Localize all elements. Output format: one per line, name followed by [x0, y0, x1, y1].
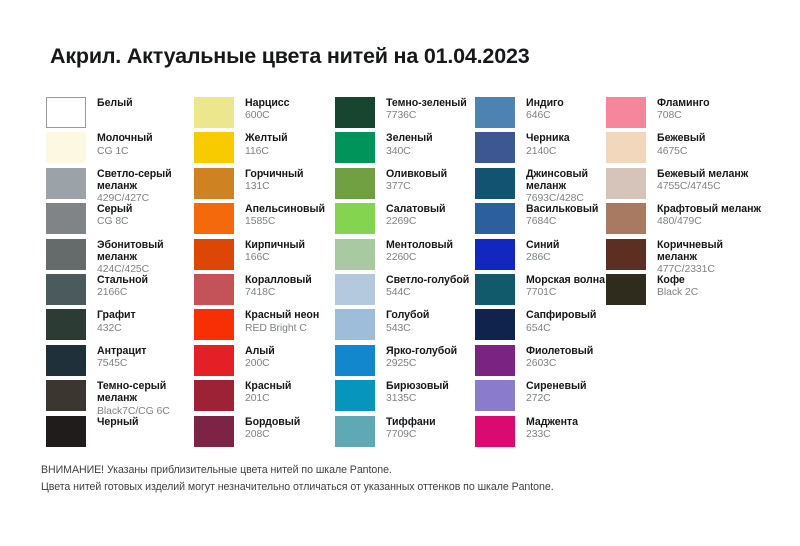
pantone-code: 4755C/4745C — [657, 181, 748, 193]
color-chip[interactable] — [475, 239, 515, 270]
color-name: Апельсиновый — [245, 203, 325, 215]
color-labels: Белый — [97, 97, 133, 109]
color-labels: Бирюзовый3135C — [386, 380, 449, 405]
color-swatch-row[interactable]: Коралловый7418C — [194, 274, 335, 306]
color-name: Эбонитовый меланж — [97, 239, 194, 264]
color-swatch-row[interactable]: Бежевый4675C — [606, 132, 762, 164]
color-name: Васильковый — [526, 203, 598, 215]
color-chip[interactable] — [194, 345, 234, 376]
color-swatch-row[interactable]: Бордовый208C — [194, 416, 335, 448]
column-blues: Индиго646CЧерника2140CДжинсовый меланж76… — [475, 97, 606, 451]
color-labels: Джинсовый меланж7693C/428C — [526, 168, 606, 206]
pantone-code: 2166C — [97, 287, 148, 299]
color-labels: Желтый116C — [245, 132, 288, 157]
color-chip[interactable] — [194, 97, 234, 128]
color-labels: Сапфировый654C — [526, 309, 596, 334]
color-chip[interactable] — [46, 203, 86, 234]
color-swatch-row[interactable]: Алый200C — [194, 345, 335, 377]
pantone-code: 2603C — [526, 358, 593, 370]
color-swatch-row[interactable]: Желтый116C — [194, 132, 335, 164]
pantone-code: 654C — [526, 323, 596, 335]
color-chip[interactable] — [335, 97, 375, 128]
color-labels: Зеленый340C — [386, 132, 433, 157]
color-chip[interactable] — [46, 168, 86, 199]
color-swatch-row[interactable]: Бежевый меланж4755C/4745C — [606, 168, 762, 200]
color-name: Крафтовый меланж — [657, 203, 761, 215]
color-name: Алый — [245, 345, 275, 357]
color-swatch-row[interactable]: Горчичный131C — [194, 168, 335, 200]
color-name: Бирюзовый — [386, 380, 449, 392]
color-swatch-row[interactable]: Оливковый377C — [335, 168, 475, 200]
color-swatch-row[interactable]: Стальной2166C — [46, 274, 194, 306]
color-labels: Светло-серый меланж429C/427C — [97, 168, 194, 206]
pantone-code: 7545C — [97, 358, 146, 370]
color-chip[interactable] — [335, 203, 375, 234]
pantone-code: 7684C — [526, 216, 598, 228]
footer-disclaimer-line: Цвета нитей готовых изделий могут незнач… — [41, 479, 741, 496]
column-warm: Нарцисс600CЖелтый116CГорчичный131CАпельс… — [194, 97, 335, 451]
color-name: Бежевый — [657, 132, 705, 144]
color-labels: Коричневый меланж477C/2331C — [657, 239, 762, 277]
color-chip[interactable] — [475, 132, 515, 163]
column-grays: БелыйМолочныйCG 1CСветло-серый меланж429… — [46, 97, 194, 451]
color-swatch-row[interactable]: Фламинго708C — [606, 97, 762, 129]
color-chip[interactable] — [335, 239, 375, 270]
color-chip[interactable] — [335, 345, 375, 376]
color-name: Ментоловый — [386, 239, 453, 251]
pantone-code: 7701C — [526, 287, 605, 299]
color-chip[interactable] — [335, 132, 375, 163]
pantone-code: 543C — [386, 323, 429, 335]
color-labels: Оливковый377C — [386, 168, 447, 193]
color-labels: Апельсиновый1585C — [245, 203, 325, 228]
color-name: Красный неон — [245, 309, 319, 321]
color-name: Бежевый меланж — [657, 168, 748, 180]
color-labels: Графит432C — [97, 309, 136, 334]
color-name: Синий — [526, 239, 559, 251]
color-chip[interactable] — [46, 345, 86, 376]
color-swatch-row[interactable]: СерыйCG 8C — [46, 203, 194, 235]
color-chip[interactable] — [475, 168, 515, 199]
color-chip[interactable] — [46, 132, 86, 163]
color-chip[interactable] — [606, 97, 646, 128]
color-chip[interactable] — [475, 203, 515, 234]
pantone-code: 2260C — [386, 252, 453, 264]
color-name: Нарцисс — [245, 97, 289, 109]
color-chip[interactable] — [335, 168, 375, 199]
pantone-code: 116C — [245, 146, 288, 158]
color-swatch-row[interactable]: Красный неонRED Bright C — [194, 309, 335, 341]
color-labels: Красный неонRED Bright C — [245, 309, 319, 334]
color-labels: Кирпичный166C — [245, 239, 305, 264]
color-name: Голубой — [386, 309, 429, 321]
color-name: Серый — [97, 203, 132, 215]
color-name: Желтый — [245, 132, 288, 144]
color-chip[interactable] — [46, 380, 86, 411]
color-name: Ярко-голубой — [386, 345, 457, 357]
color-chip[interactable] — [475, 416, 515, 447]
color-swatch-row[interactable]: Антрацит7545C — [46, 345, 194, 377]
pantone-code: 480/479C — [657, 216, 761, 228]
color-name: Кофе — [657, 274, 698, 286]
color-swatch-row[interactable]: Ярко-голубой2925C — [335, 345, 475, 377]
color-chip[interactable] — [335, 380, 375, 411]
color-labels: Черника2140C — [526, 132, 570, 157]
color-labels: Бежевый меланж4755C/4745C — [657, 168, 748, 193]
color-chip[interactable] — [194, 132, 234, 163]
color-name: Индиго — [526, 97, 564, 109]
color-swatch-row[interactable]: Темно-зеленый7736C — [335, 97, 475, 129]
color-swatch-row[interactable]: Коричневый меланж477C/2331C — [606, 239, 762, 271]
color-swatch-row[interactable]: Индиго646C — [475, 97, 606, 129]
color-chip[interactable] — [335, 274, 375, 305]
pantone-code: 131C — [245, 181, 303, 193]
column-browns: Фламинго708CБежевый4675CБежевый меланж47… — [606, 97, 762, 309]
color-labels: Бордовый208C — [245, 416, 300, 441]
pantone-code: 1585C — [245, 216, 325, 228]
color-swatch-row[interactable]: Сапфировый654C — [475, 309, 606, 341]
color-swatch-row[interactable]: КофеBlack 2C — [606, 274, 762, 306]
color-labels: КофеBlack 2C — [657, 274, 698, 299]
color-swatch-row[interactable]: Васильковый7684C — [475, 203, 606, 235]
color-labels: Индиго646C — [526, 97, 564, 122]
color-labels: Красный201C — [245, 380, 291, 405]
pantone-code: Black 2C — [657, 287, 698, 299]
color-labels: Крафтовый меланж480/479C — [657, 203, 761, 228]
color-name: Молочный — [97, 132, 153, 144]
pantone-code: 286C — [526, 252, 559, 264]
color-labels: Маджента233C — [526, 416, 578, 441]
color-labels: СерыйCG 8C — [97, 203, 132, 228]
color-name: Светло-голубой — [386, 274, 469, 286]
pantone-code: RED Bright C — [245, 323, 319, 335]
color-labels: Стальной2166C — [97, 274, 148, 299]
color-swatch-row[interactable]: Эбонитовый меланж424C/425C — [46, 239, 194, 271]
color-labels: Морская волна7701C — [526, 274, 605, 299]
color-labels: Нарцисс600C — [245, 97, 289, 122]
color-name: Бордовый — [245, 416, 300, 428]
color-swatch-row[interactable]: Фиолетовый2603C — [475, 345, 606, 377]
color-swatch-row[interactable]: Джинсовый меланж7693C/428C — [475, 168, 606, 200]
color-name: Антрацит — [97, 345, 146, 357]
color-chip[interactable] — [194, 380, 234, 411]
color-name: Тиффани — [386, 416, 436, 428]
color-labels: Коралловый7418C — [245, 274, 312, 299]
color-labels: Темно-серый меланжBlack7C/CG 6C — [97, 380, 194, 418]
color-name: Маджента — [526, 416, 578, 428]
color-chip[interactable] — [194, 416, 234, 447]
color-swatch-row[interactable]: Морская волна7701C — [475, 274, 606, 306]
color-labels: Голубой543C — [386, 309, 429, 334]
color-chip[interactable] — [606, 168, 646, 199]
color-labels: Ярко-голубой2925C — [386, 345, 457, 370]
pantone-code: 432C — [97, 323, 136, 335]
color-swatch-row[interactable]: Белый — [46, 97, 194, 129]
color-chip[interactable] — [475, 345, 515, 376]
color-chart-sheet: Акрил. Актуальные цвета нитей на 01.04.2… — [0, 0, 800, 546]
color-name: Графит — [97, 309, 136, 321]
color-swatch-row[interactable]: Черника2140C — [475, 132, 606, 164]
color-chip[interactable] — [194, 309, 234, 340]
color-swatch-row[interactable]: Кирпичный166C — [194, 239, 335, 271]
color-swatch-row[interactable]: Зеленый340C — [335, 132, 475, 164]
color-chip[interactable] — [475, 97, 515, 128]
color-name: Джинсовый меланж — [526, 168, 606, 193]
color-labels: Тиффани7709C — [386, 416, 436, 441]
color-name: Стальной — [97, 274, 148, 286]
pantone-code: 201C — [245, 393, 291, 405]
column-greens: Темно-зеленый7736CЗеленый340CОливковый37… — [335, 97, 475, 451]
color-labels: Светло-голубой544C — [386, 274, 469, 299]
color-name: Темно-серый меланж — [97, 380, 194, 405]
color-chip[interactable] — [46, 274, 86, 305]
pantone-code: 377C — [386, 181, 447, 193]
color-name: Морская волна — [526, 274, 605, 286]
color-swatch-row[interactable]: Синий286C — [475, 239, 606, 271]
color-chip[interactable] — [46, 416, 86, 447]
color-name: Белый — [97, 97, 133, 109]
pantone-code: 208C — [245, 429, 300, 441]
color-swatch-row[interactable]: Голубой543C — [335, 309, 475, 341]
color-swatch-row[interactable]: Маджента233C — [475, 416, 606, 448]
color-labels: Алый200C — [245, 345, 275, 370]
color-name: Горчичный — [245, 168, 303, 180]
color-swatch-row[interactable]: Тиффани7709C — [335, 416, 475, 448]
color-chip[interactable] — [46, 309, 86, 340]
color-labels: Васильковый7684C — [526, 203, 598, 228]
pantone-code: 272C — [526, 393, 586, 405]
color-labels: Темно-зеленый7736C — [386, 97, 467, 122]
page-title: Акрил. Актуальные цвета нитей на 01.04.2… — [50, 44, 529, 69]
footer-notes: ВНИМАНИЕ! Указаны приблизительные цвета … — [41, 462, 741, 496]
swatch-columns: БелыйМолочныйCG 1CСветло-серый меланж429… — [46, 97, 762, 451]
color-name: Сапфировый — [526, 309, 596, 321]
color-labels: Синий286C — [526, 239, 559, 264]
pantone-code: 7418C — [245, 287, 312, 299]
color-chip[interactable] — [606, 132, 646, 163]
pantone-code: 2269C — [386, 216, 445, 228]
color-chip[interactable] — [194, 274, 234, 305]
color-labels: Эбонитовый меланж424C/425C — [97, 239, 194, 277]
pantone-code: 233C — [526, 429, 578, 441]
color-name: Коралловый — [245, 274, 312, 286]
color-name: Красный — [245, 380, 291, 392]
color-labels: Сиреневый272C — [526, 380, 586, 405]
color-swatch-row[interactable]: Темно-серый меланжBlack7C/CG 6C — [46, 380, 194, 412]
pantone-code: 7709C — [386, 429, 436, 441]
color-swatch-row[interactable]: Красный201C — [194, 380, 335, 412]
color-swatch-row[interactable]: Графит432C — [46, 309, 194, 341]
pantone-code: 600C — [245, 110, 289, 122]
color-labels: МолочныйCG 1C — [97, 132, 153, 157]
color-name: Кирпичный — [245, 239, 305, 251]
color-chip[interactable] — [335, 416, 375, 447]
pantone-code: 4675C — [657, 146, 705, 158]
color-name: Сиреневый — [526, 380, 586, 392]
color-name: Зеленый — [386, 132, 433, 144]
color-labels: Антрацит7545C — [97, 345, 146, 370]
pantone-code: 544C — [386, 287, 469, 299]
color-chip[interactable] — [606, 274, 646, 305]
footer-warning-line: ВНИМАНИЕ! Указаны приблизительные цвета … — [41, 462, 741, 479]
color-swatch-row[interactable]: Светло-серый меланж429C/427C — [46, 168, 194, 200]
pantone-code: CG 8C — [97, 216, 132, 228]
pantone-code: 2925C — [386, 358, 457, 370]
pantone-code: 708C — [657, 110, 710, 122]
pantone-code: 340C — [386, 146, 433, 158]
color-labels: Ментоловый2260C — [386, 239, 453, 264]
color-name: Коричневый меланж — [657, 239, 762, 264]
color-labels: Черный — [97, 416, 138, 428]
color-chip[interactable] — [335, 309, 375, 340]
color-labels: Горчичный131C — [245, 168, 303, 193]
color-swatch-row[interactable]: Крафтовый меланж480/479C — [606, 203, 762, 235]
color-labels: Фламинго708C — [657, 97, 710, 122]
pantone-code: 7736C — [386, 110, 467, 122]
pantone-code: 200C — [245, 358, 275, 370]
color-chip[interactable] — [606, 203, 646, 234]
color-labels: Бежевый4675C — [657, 132, 705, 157]
color-name: Оливковый — [386, 168, 447, 180]
pantone-code: 2140C — [526, 146, 570, 158]
color-chip[interactable] — [194, 168, 234, 199]
color-swatch-row[interactable]: Светло-голубой544C — [335, 274, 475, 306]
color-labels: Салатовый2269C — [386, 203, 445, 228]
pantone-code: 3135C — [386, 393, 449, 405]
color-swatch-row[interactable]: МолочныйCG 1C — [46, 132, 194, 164]
pantone-code: 166C — [245, 252, 305, 264]
color-swatch-row[interactable]: Ментоловый2260C — [335, 239, 475, 271]
pantone-code: CG 1C — [97, 146, 153, 158]
color-name: Салатовый — [386, 203, 445, 215]
color-chip[interactable] — [475, 274, 515, 305]
color-name: Черника — [526, 132, 570, 144]
color-chip[interactable] — [475, 309, 515, 340]
color-name: Темно-зеленый — [386, 97, 467, 109]
color-chip[interactable] — [194, 203, 234, 234]
color-swatch-row[interactable]: Апельсиновый1585C — [194, 203, 335, 235]
color-name: Черный — [97, 416, 138, 428]
color-name: Фиолетовый — [526, 345, 593, 357]
color-name: Светло-серый меланж — [97, 168, 194, 193]
color-swatch-row[interactable]: Нарцисс600C — [194, 97, 335, 129]
color-chip[interactable] — [475, 380, 515, 411]
color-swatch-row[interactable]: Бирюзовый3135C — [335, 380, 475, 412]
color-swatch-row[interactable]: Черный — [46, 416, 194, 448]
color-chip[interactable] — [606, 239, 646, 270]
pantone-code: 646C — [526, 110, 564, 122]
color-chip[interactable] — [46, 239, 86, 270]
color-chip[interactable] — [46, 97, 86, 128]
color-swatch-row[interactable]: Салатовый2269C — [335, 203, 475, 235]
color-chip[interactable] — [194, 239, 234, 270]
color-name: Фламинго — [657, 97, 710, 109]
color-labels: Фиолетовый2603C — [526, 345, 593, 370]
color-swatch-row[interactable]: Сиреневый272C — [475, 380, 606, 412]
